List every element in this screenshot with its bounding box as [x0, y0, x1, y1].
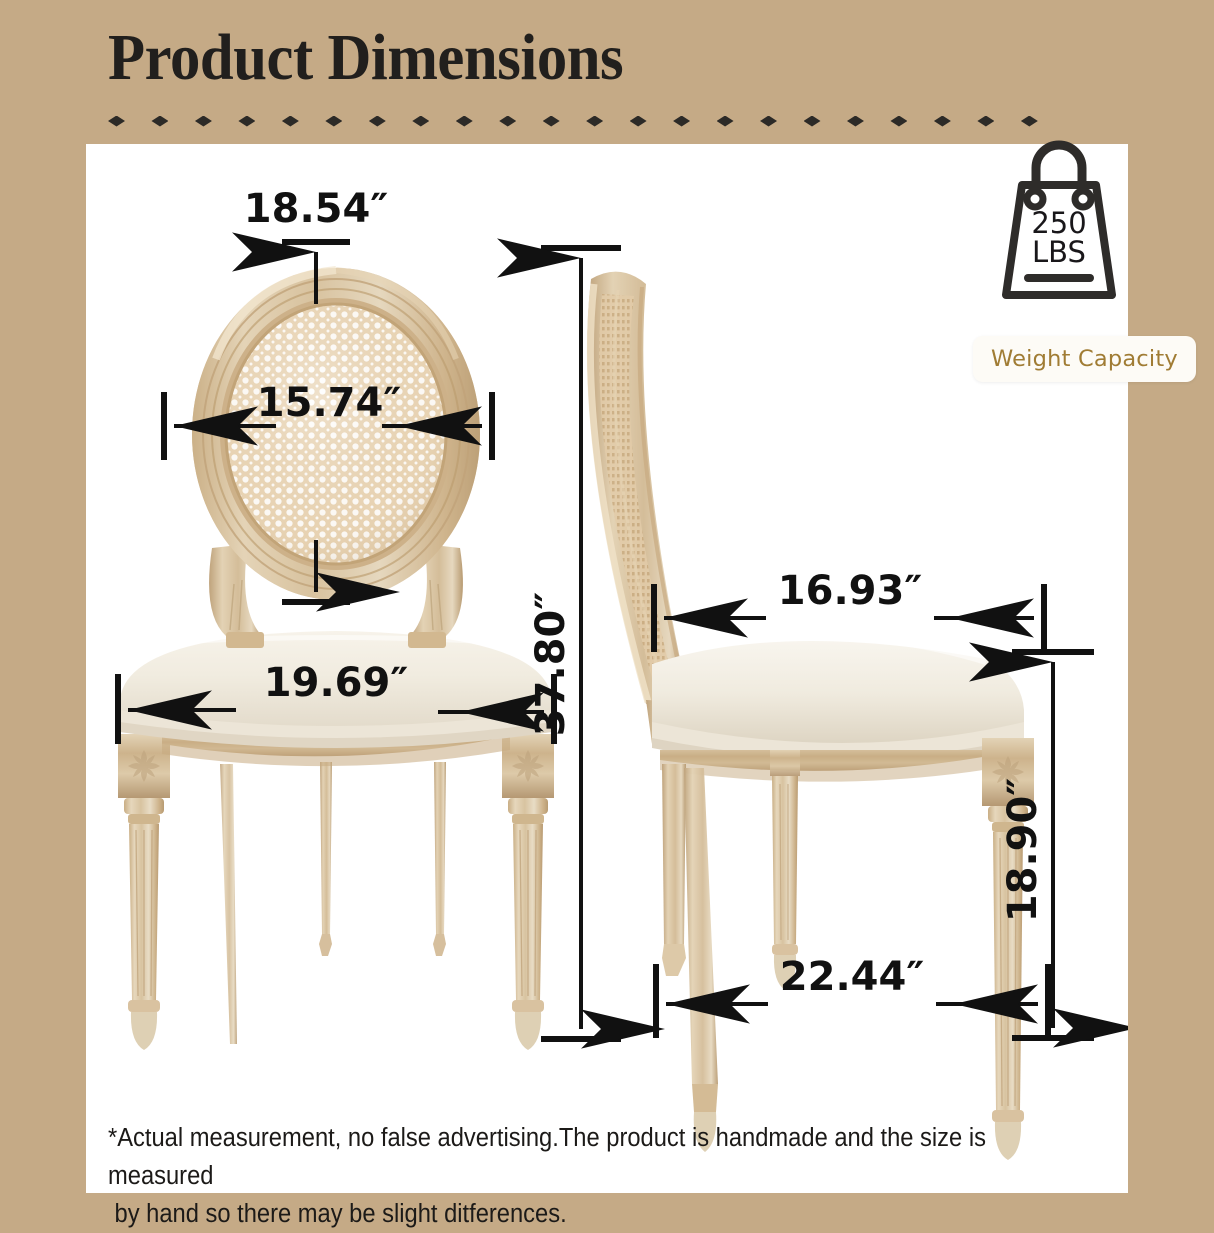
dimension-label-back-height: 18.54″: [244, 186, 388, 232]
divider-diamond: [543, 116, 560, 127]
divider-diamond: [890, 116, 907, 127]
divider-diamond: [195, 116, 212, 127]
diamond-divider: [108, 108, 1038, 134]
footnote-line-1: *Actual measurement, no false advertisin…: [108, 1124, 986, 1190]
weight-capacity-label: Weight Capacity: [973, 336, 1196, 382]
dimension-label-overall-height: 37.80″: [528, 592, 574, 736]
side-chair-seat: [652, 635, 1024, 767]
divider-diamond: [804, 116, 821, 127]
divider-diamond: [151, 116, 168, 127]
front-chair-cane-back: [192, 268, 480, 600]
divider-diamond: [238, 116, 255, 127]
chair-dimension-diagram: 18.54″ 15.74″ 19.69″: [86, 144, 1128, 1193]
dimension-label-seat-height: 18.90″: [1000, 778, 1046, 922]
divider-diamond: [586, 116, 603, 127]
infographic-page: Product Dimensions: [0, 0, 1214, 1214]
front-chair-front-left-leg: [118, 734, 170, 1050]
divider-diamond: [717, 116, 734, 127]
divider-diamond: [630, 116, 647, 127]
footnote: *Actual measurement, no false advertisin…: [108, 1119, 1052, 1233]
divider-diamond: [108, 116, 125, 127]
diagram-card: 18.54″ 15.74″ 19.69″: [86, 144, 1128, 1193]
dimension-label-seat-width: 19.69″: [264, 660, 408, 706]
side-chair-apron: [660, 750, 1020, 782]
divider-diamond: [282, 116, 299, 127]
shopping-bag-icon: 250 LBS: [996, 138, 1122, 328]
page-title: Product Dimensions: [108, 22, 623, 94]
weight-capacity-text: Weight Capacity: [991, 346, 1178, 372]
front-chair-back-legs: [220, 762, 446, 1044]
divider-diamond: [977, 116, 994, 127]
divider-diamond: [325, 116, 342, 127]
divider-diamond: [934, 116, 951, 127]
divider-diamond: [673, 116, 690, 127]
divider-diamond: [369, 116, 386, 127]
front-chair-front-right-leg: [502, 734, 554, 1050]
divider-diamond: [499, 116, 516, 127]
dimension-label-overall-depth: 22.44″: [780, 954, 924, 1000]
side-chair-back-legs: [662, 764, 718, 1084]
divider-diamond: [847, 116, 864, 127]
divider-diamond: [412, 116, 429, 127]
footnote-line-2: by hand so there may be slight ditferenc…: [108, 1195, 1052, 1233]
weight-unit: LBS: [1032, 235, 1086, 269]
divider-diamond: [1021, 116, 1038, 127]
dimension-label-seat-depth: 16.93″: [778, 568, 922, 614]
divider-diamond: [760, 116, 777, 127]
divider-diamond: [456, 116, 473, 127]
dimension-label-back-width: 15.74″: [257, 380, 401, 426]
